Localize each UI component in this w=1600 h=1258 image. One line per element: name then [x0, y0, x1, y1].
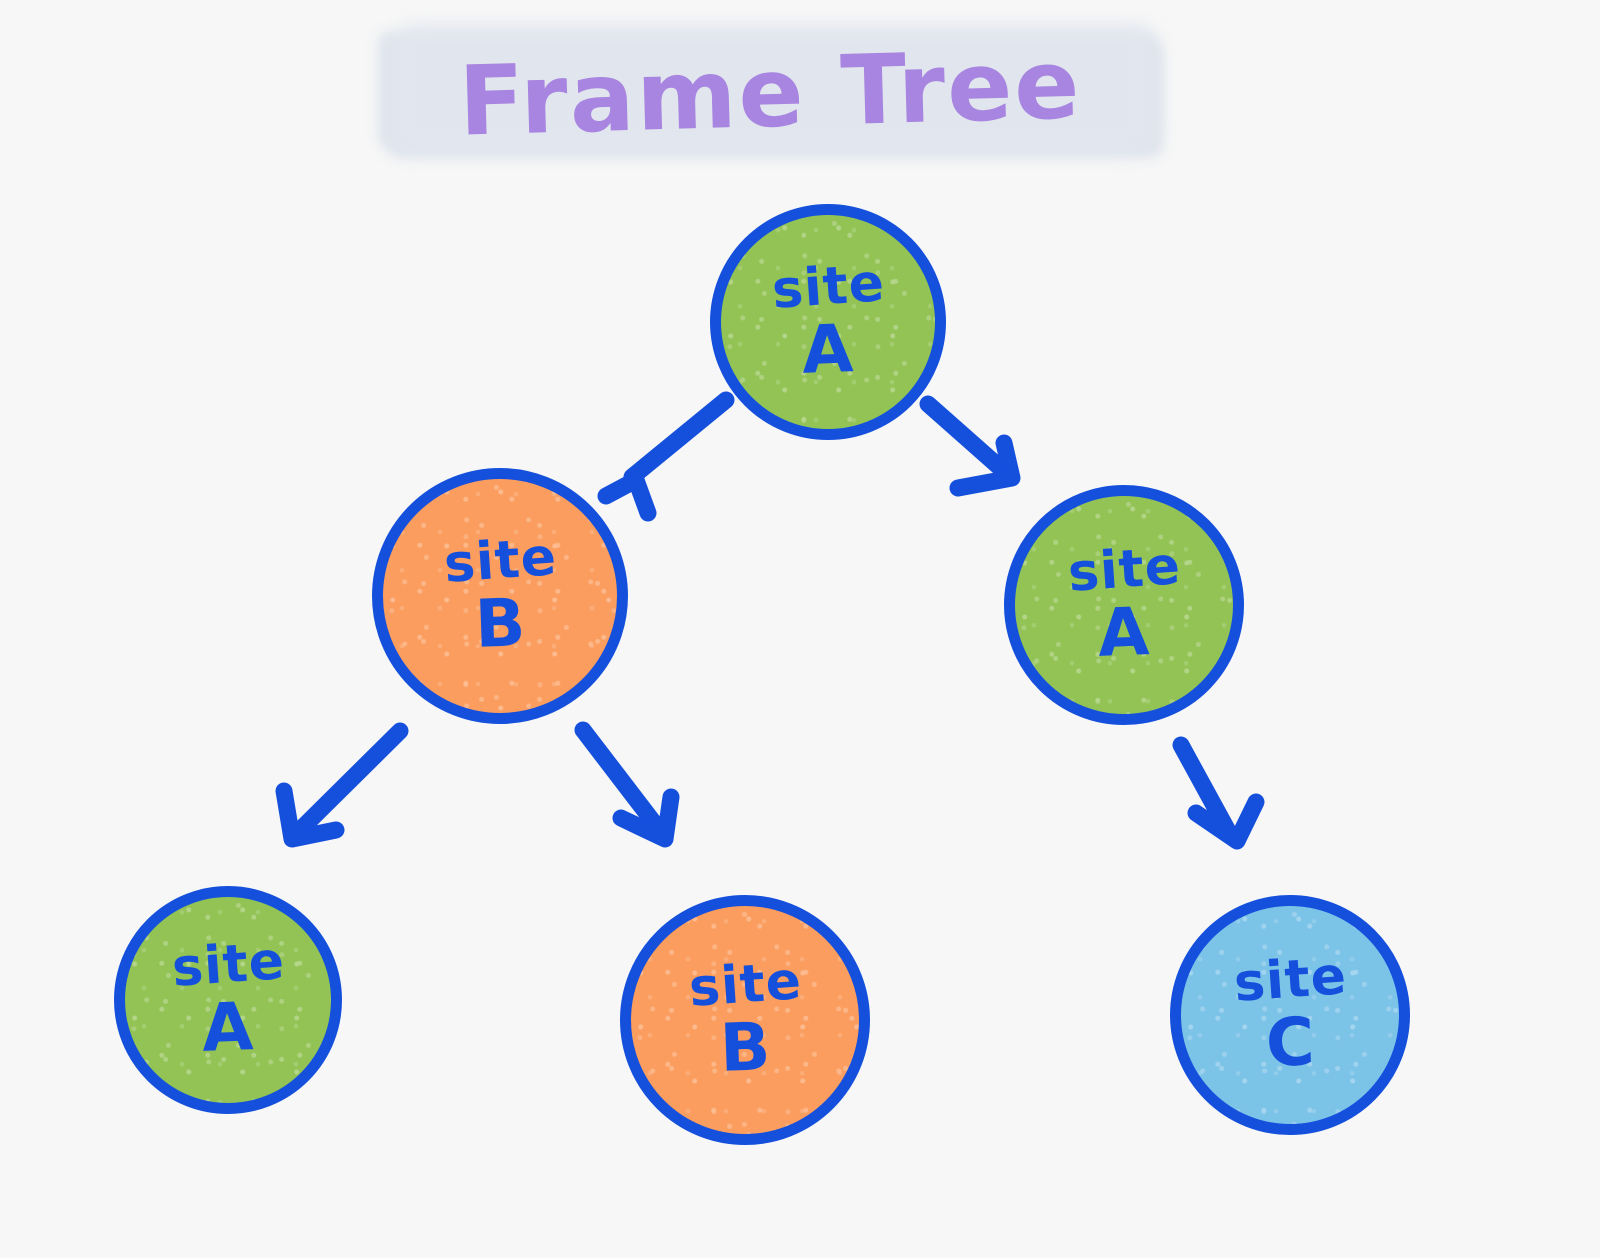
node-root-site-a[interactable]: site A [710, 204, 946, 440]
node-site-label: site [770, 257, 886, 317]
node-site-b-level1[interactable]: site B [372, 468, 628, 724]
node-site-b-level2[interactable]: site B [620, 895, 870, 1145]
node-letter-label: A [201, 994, 254, 1062]
node-site-label: site [442, 531, 558, 591]
arrow-site-b-to-site-a [284, 731, 400, 839]
arrow-root-to-site-a-right [928, 404, 1012, 488]
frame-tree-diagram-canvas: Frame Tree [0, 0, 1600, 1258]
arrow-site-b-to-site-b [583, 730, 671, 839]
arrow-site-a-to-site-c [1181, 745, 1256, 841]
node-site-label: site [1066, 540, 1182, 600]
node-site-label: site [687, 955, 803, 1015]
node-letter-label: A [1097, 599, 1150, 667]
node-site-c-level2[interactable]: site C [1170, 895, 1410, 1135]
node-site-a-level1[interactable]: site A [1004, 485, 1244, 725]
node-letter-label: B [719, 1014, 772, 1082]
node-letter-label: B [474, 590, 527, 658]
node-site-a-level2[interactable]: site A [114, 886, 342, 1114]
node-site-label: site [170, 935, 286, 995]
node-site-label: site [1232, 950, 1348, 1010]
node-letter-label: A [801, 316, 854, 384]
arrow-root-to-site-b [606, 400, 726, 513]
node-letter-label: C [1265, 1009, 1316, 1077]
